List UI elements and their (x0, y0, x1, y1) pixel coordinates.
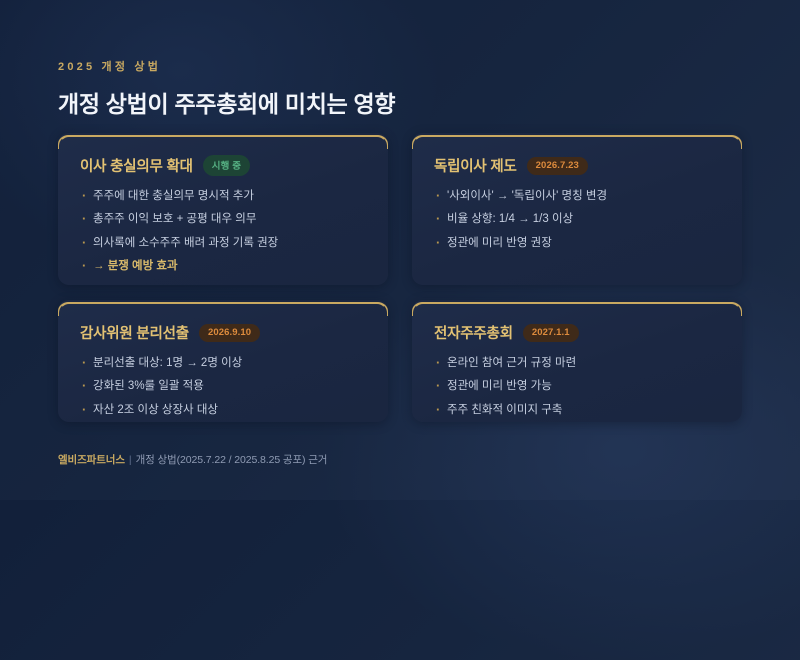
bullet-item: 강화된 3%룰 일괄 적용 (80, 379, 366, 393)
bullet-list: 온라인 참여 근거 규정 마련정관에 미리 반영 가능주주 친화적 이미지 구축 (434, 356, 720, 417)
bullet-item: 비율 상향: 1/4 → 1/3 이상 (434, 212, 720, 226)
bullet-item: '사외이사' → '독립이사' 명칭 변경 (434, 189, 720, 203)
status-badge: 2026.9.10 (199, 324, 260, 342)
status-badge: 2026.7.23 (527, 157, 588, 175)
bullet-item: 의사록에 소수주주 배려 과정 기록 권장 (80, 236, 366, 250)
card-grid: 이사 충실의무 확대시행 중주주에 대한 충실의무 명시적 추가총주주 이익 보… (58, 133, 742, 422)
status-badge: 2027.1.1 (523, 324, 579, 342)
card-title: 전자주주총회 (434, 322, 513, 343)
bullet-item: 정관에 미리 반영 권장 (434, 236, 720, 250)
slide-root: 2025 개정 상법 개정 상법이 주주총회에 미치는 영향 이사 충실의무 확… (0, 0, 800, 500)
page-title: 개정 상법이 주주총회에 미치는 영향 (58, 85, 395, 119)
footer-separator: | (129, 454, 132, 466)
bullet-list: 분리선출 대상: 1명 → 2명 이상강화된 3%룰 일괄 적용자산 2조 이상… (80, 356, 366, 417)
card-title: 독립이사 제도 (434, 155, 517, 176)
bullet-item: 주주 친화적 이미지 구축 (434, 403, 720, 417)
status-badge: 시행 중 (203, 155, 250, 176)
bullet-list: '사외이사' → '독립이사' 명칭 변경비율 상향: 1/4 → 1/3 이상… (434, 189, 720, 250)
info-card: 독립이사 제도2026.7.23'사외이사' → '독립이사' 명칭 변경비율 … (412, 133, 742, 285)
card-header: 독립이사 제도2026.7.23 (434, 155, 720, 176)
info-card: 감사위원 분리선출2026.9.10분리선출 대상: 1명 → 2명 이상강화된… (58, 300, 388, 422)
bullet-item-highlight: → 분쟁 예방 효과 (80, 259, 366, 273)
card-header: 감사위원 분리선출2026.9.10 (80, 322, 366, 343)
bullet-item: 주주에 대한 충실의무 명시적 추가 (80, 189, 366, 203)
eyebrow-label: 2025 개정 상법 (58, 58, 395, 74)
bullet-list: 주주에 대한 충실의무 명시적 추가총주주 이익 보호 + 공평 대우 의무의사… (80, 189, 366, 274)
footer-note: 개정 상법(2025.7.22 / 2025.8.25 공포) 근거 (136, 454, 328, 466)
bullet-item: 정관에 미리 반영 가능 (434, 379, 720, 393)
bullet-item: 분리선출 대상: 1명 → 2명 이상 (80, 356, 366, 370)
card-title: 감사위원 분리선출 (80, 322, 189, 343)
card-header: 전자주주총회2027.1.1 (434, 322, 720, 343)
bullet-item: 온라인 참여 근거 규정 마련 (434, 356, 720, 370)
card-header: 이사 충실의무 확대시행 중 (80, 155, 366, 176)
footer-brand: 엘비즈파트너스 (58, 454, 125, 466)
info-card: 이사 충실의무 확대시행 중주주에 대한 충실의무 명시적 추가총주주 이익 보… (58, 133, 388, 285)
footer: 엘비즈파트너스|개정 상법(2025.7.22 / 2025.8.25 공포) … (58, 452, 327, 467)
bullet-item: 총주주 이익 보호 + 공평 대우 의무 (80, 212, 366, 226)
header: 2025 개정 상법 개정 상법이 주주총회에 미치는 영향 (58, 58, 395, 119)
bullet-item: 자산 2조 이상 상장사 대상 (80, 403, 366, 417)
card-title: 이사 충실의무 확대 (80, 155, 193, 176)
info-card: 전자주주총회2027.1.1온라인 참여 근거 규정 마련정관에 미리 반영 가… (412, 300, 742, 422)
